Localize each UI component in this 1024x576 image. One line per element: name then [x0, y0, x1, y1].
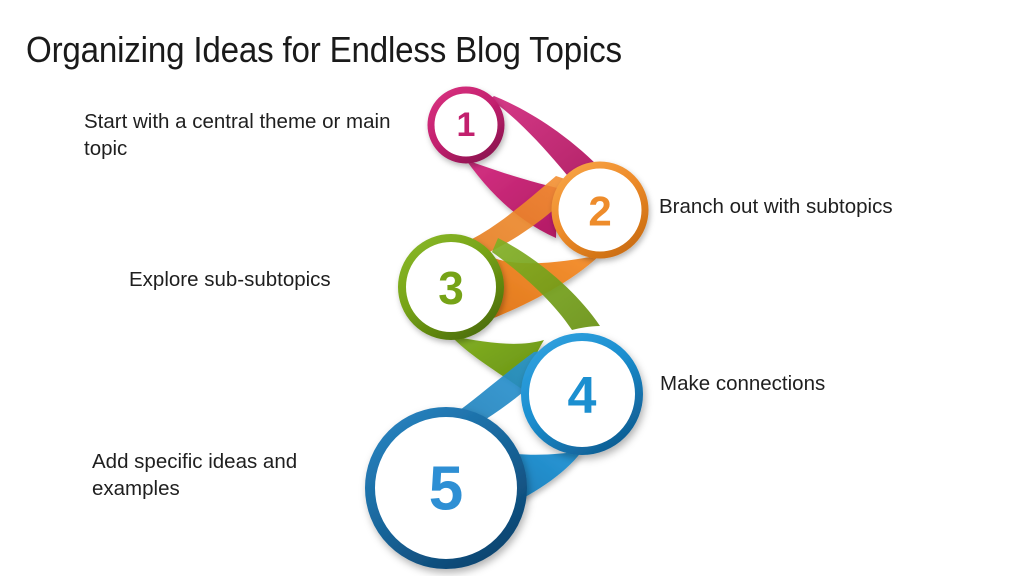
step-circle-2[interactable]: 2: [555, 165, 645, 255]
step-3-number: 3: [438, 262, 464, 314]
step-circle-5[interactable]: 5: [370, 412, 522, 564]
slide-canvas: Organizing Ideas for Endless Blog Topics: [0, 0, 1024, 576]
step-label-1: Start with a central theme or main topic: [84, 108, 434, 162]
step-5-number: 5: [429, 455, 463, 524]
step-label-4: Make connections: [660, 370, 960, 397]
step-label-3: Explore sub-subtopics: [129, 266, 399, 293]
step-2-number: 2: [588, 188, 611, 235]
step-label-5: Add specific ideas and examples: [92, 448, 382, 502]
step-circle-3[interactable]: 3: [402, 238, 500, 336]
step-1-number: 1: [457, 106, 476, 144]
step-label-2: Branch out with subtopics: [659, 193, 989, 220]
step-circle-1[interactable]: 1: [431, 90, 501, 160]
step-4-number: 4: [568, 367, 597, 425]
step-circle-4[interactable]: 4: [525, 337, 639, 451]
